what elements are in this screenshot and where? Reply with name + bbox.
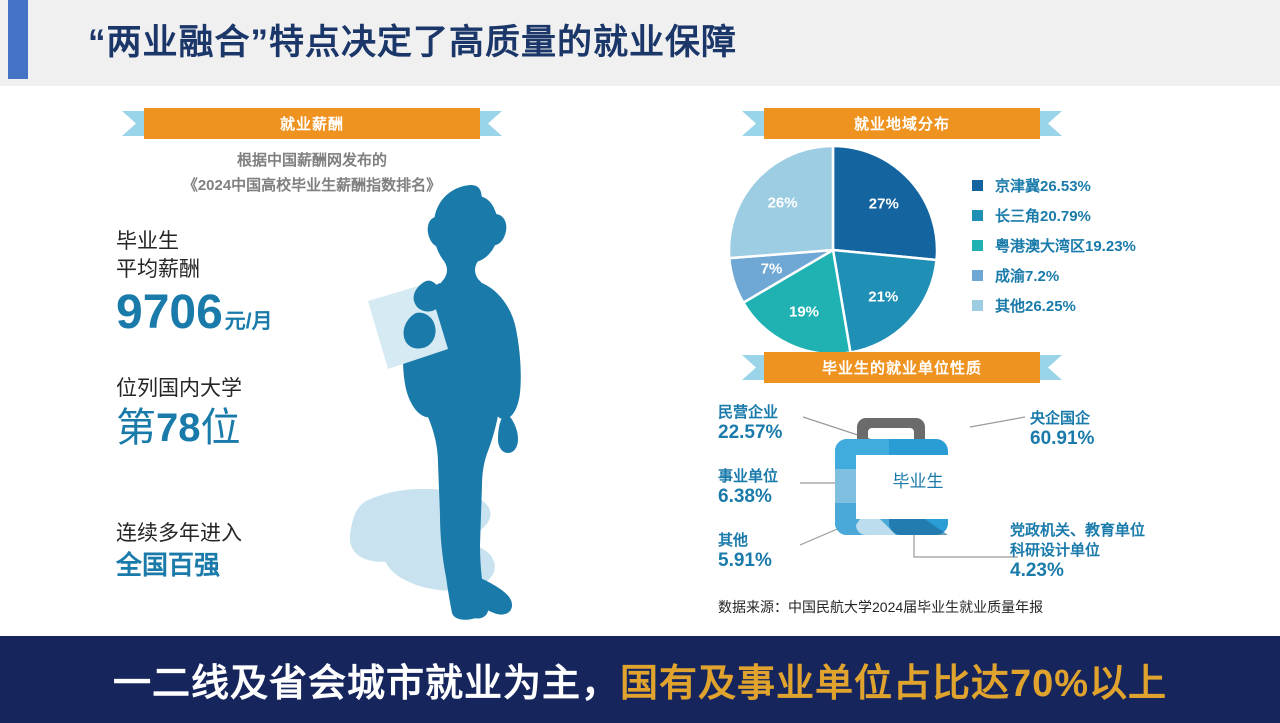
footer-text-white: 一二线及省会城市就业为主，: [113, 663, 620, 705]
stat-rank-prefix: 第: [116, 406, 156, 450]
stat-salary-line2: 平均薪酬: [116, 256, 273, 284]
region-pie-svg: [727, 144, 939, 356]
label-government-education-value: 4.23%: [1010, 561, 1145, 581]
briefcase-center-label: 毕业生: [860, 467, 976, 492]
banner-employer-nature: 毕业生的就业单位性质: [742, 352, 1062, 383]
banner-salary-band: 就业薪酬: [144, 108, 480, 139]
label-private-enterprise: 民营企业 22.57%: [718, 403, 782, 443]
pie-slice-label: 27%: [869, 195, 899, 212]
label-private-enterprise-value: 22.57%: [718, 423, 782, 443]
region-pie-chart: 27%21%19%7%26%: [727, 144, 939, 356]
label-private-enterprise-name: 民营企业: [718, 403, 782, 423]
label-public-institution: 事业单位 6.38%: [718, 467, 778, 507]
legend-item-label: 成渝7.2%: [995, 265, 1059, 286]
header-accent-bar: [8, 0, 28, 79]
employer-nature-diagram: 毕业生 民营企业 22.57% 事业单位 6.38% 其他 5.91% 央企国企…: [700, 395, 1220, 600]
slide-header: “两业融合”特点决定了高质量的就业保障: [0, 0, 1280, 86]
legend-item[interactable]: 粤港澳大湾区19.23%: [972, 230, 1136, 260]
slide: “两业融合”特点决定了高质量的就业保障 就业薪酬 根据中国薪酬网发布的 《202…: [0, 0, 1280, 723]
legend-item-label: 粤港澳大湾区19.23%: [995, 235, 1136, 256]
label-government-education-name2: 科研设计单位: [1010, 541, 1145, 561]
region-legend: 京津冀26.53%长三角20.79%粤港澳大湾区19.23%成渝7.2%其他26…: [972, 170, 1136, 320]
banner-salary-label: 就业薪酬: [280, 113, 344, 134]
pie-slice-label: 7%: [761, 261, 783, 278]
businesswoman-silhouette-icon: [330, 185, 600, 620]
legend-swatch-icon: [972, 270, 983, 281]
label-other-employer-name: 其他: [718, 531, 772, 551]
stat-salary-line1: 毕业生: [116, 228, 273, 256]
pie-slice-label: 26%: [768, 195, 798, 212]
legend-swatch-icon: [972, 240, 983, 251]
footer-text-gold: 国有及事业单位占比达70%以上: [620, 663, 1167, 705]
label-other-employer-value: 5.91%: [718, 551, 772, 571]
banner-region-band: 就业地域分布: [764, 108, 1040, 139]
legend-item[interactable]: 京津冀26.53%: [972, 170, 1136, 200]
stat-top100-label: 连续多年进入: [116, 520, 242, 548]
label-public-institution-value: 6.38%: [718, 487, 778, 507]
legend-swatch-icon: [972, 300, 983, 311]
stat-rank-value: 78: [156, 406, 201, 450]
pie-slices: [729, 146, 937, 354]
stat-salary-unit: 元/月: [225, 293, 273, 351]
legend-item[interactable]: 其他26.25%: [972, 290, 1136, 320]
legend-item-label: 其他26.25%: [995, 295, 1076, 316]
pie-slice-label: 19%: [789, 304, 819, 321]
salary-subtitle-line1: 根据中国薪酬网发布的: [122, 148, 502, 173]
banner-region: 就业地域分布: [742, 108, 1062, 139]
legend-swatch-icon: [972, 210, 983, 221]
stat-salary-value-row: 9706 元/月: [116, 284, 273, 351]
banner-salary: 就业薪酬: [122, 108, 502, 139]
label-other-employer: 其他 5.91%: [718, 531, 772, 571]
stat-top100-value: 全国百强: [116, 548, 242, 582]
banner-employer-nature-band: 毕业生的就业单位性质: [764, 352, 1040, 383]
legend-swatch-icon: [972, 180, 983, 191]
stat-rank-label: 位列国内大学: [116, 375, 242, 403]
stat-rank-value-row: 第78位: [116, 403, 242, 453]
pie-slice-label: 21%: [868, 288, 898, 305]
legend-item-label: 京津冀26.53%: [995, 175, 1091, 196]
footer-text: 一二线及省会城市就业为主，国有及事业单位占比达70%以上: [113, 652, 1167, 707]
briefcase-handle-icon: [857, 418, 925, 441]
label-government-education-name: 党政机关、教育单位: [1010, 521, 1145, 541]
legend-item-label: 长三角20.79%: [995, 205, 1091, 226]
stat-university-rank: 位列国内大学 第78位: [116, 375, 242, 453]
label-state-owned-enterprise-value: 60.91%: [1030, 429, 1094, 449]
banner-region-label: 就业地域分布: [854, 113, 950, 134]
label-state-owned-enterprise: 央企国企 60.91%: [1030, 409, 1094, 449]
banner-employer-nature-label: 毕业生的就业单位性质: [822, 357, 982, 378]
stat-salary-value: 9706: [116, 284, 223, 342]
label-public-institution-name: 事业单位: [718, 467, 778, 487]
stat-average-salary: 毕业生 平均薪酬 9706 元/月: [116, 228, 273, 351]
legend-item[interactable]: 成渝7.2%: [972, 260, 1136, 290]
stat-rank-suffix: 位: [201, 406, 241, 450]
label-state-owned-enterprise-name: 央企国企: [1030, 409, 1094, 429]
stat-top100: 连续多年进入 全国百强: [116, 520, 242, 582]
data-source-note: 数据来源：中国民航大学2024届毕业生就业质量年报: [718, 597, 1043, 617]
legend-item[interactable]: 长三角20.79%: [972, 200, 1136, 230]
slide-footer: 一二线及省会城市就业为主，国有及事业单位占比达70%以上: [0, 636, 1280, 723]
page-title: “两业融合”特点决定了高质量的就业保障: [88, 14, 737, 65]
label-government-education: 党政机关、教育单位 科研设计单位 4.23%: [1010, 521, 1145, 581]
